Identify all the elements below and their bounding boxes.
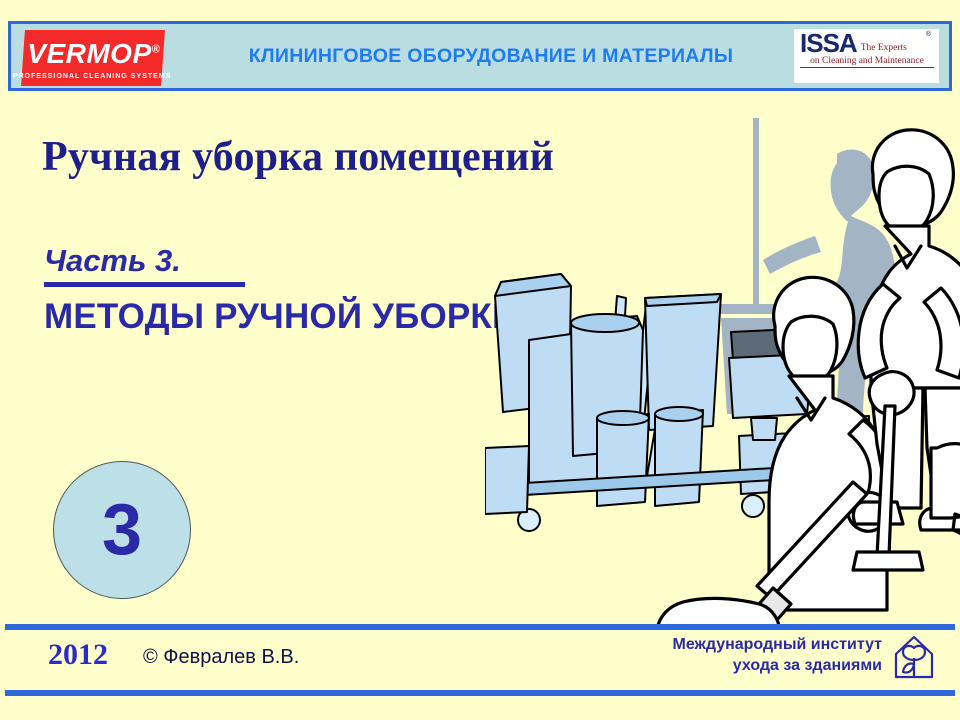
- cart-base-bar-icon: [507, 466, 807, 496]
- issa-tagline: on Cleaning and Maintenance: [800, 56, 934, 68]
- figure-standing-collar-icon: [895, 246, 921, 268]
- figure-standing-shoe-left-icon: [853, 502, 903, 524]
- vermop-registered-icon: ®: [151, 43, 160, 55]
- detergent-canister-icon: [825, 416, 869, 494]
- footer-institute-line1: Международный институт: [672, 634, 882, 655]
- round-bin-lid-icon: [571, 314, 639, 332]
- figure-front-face-icon: [783, 316, 837, 383]
- footer-year: 2012: [48, 638, 108, 672]
- issa-registered-icon: ®: [926, 31, 931, 38]
- vacuum-body-icon: [931, 444, 960, 518]
- header-bar: VERMOP® PROFESSIONAL CLEANING SYSTEMS КЛ…: [8, 21, 952, 91]
- waste-bin-lid-icon: [495, 274, 571, 296]
- footer-institute-line2: ухода за зданиями: [672, 655, 882, 676]
- institute-house-icon: [890, 632, 938, 682]
- vermop-name: VERMOP: [27, 38, 151, 69]
- issa-logo[interactable]: ® ISSA The Experts on Cleaning and Maint…: [794, 29, 939, 83]
- bag-holder-panel-icon: [529, 330, 599, 492]
- wringer-press-icon: [751, 418, 777, 440]
- part-label-underline: [44, 282, 245, 287]
- figure-standing-face-icon: [879, 166, 933, 233]
- large-bucket-icon: [645, 294, 721, 430]
- vacuum-cleaner-icon: [931, 444, 960, 556]
- cart-tray-icon: [731, 328, 817, 360]
- figure-standing-leg-right-icon: [925, 388, 960, 514]
- wringer-bucket-icon: [739, 432, 811, 494]
- house-flower-icon: [903, 646, 925, 660]
- figure-standing-arm-right-icon: [924, 288, 960, 378]
- vacuum-nozzle-icon: [853, 406, 923, 570]
- figure-front-torso-icon: [769, 376, 887, 610]
- footer-rule-bottom: [5, 690, 955, 696]
- small-bin-front-left-lid-icon: [597, 411, 649, 425]
- cleaner-figure-standing-icon: [853, 130, 960, 530]
- vacuum-hose-icon: [953, 514, 960, 556]
- vacuum-wand-icon: [877, 406, 895, 556]
- cleaner-figure-front-icon: [769, 277, 893, 610]
- round-bin-icon: [571, 316, 643, 456]
- issa-experts-block: The Experts: [861, 37, 934, 56]
- side-caddy-icon: [485, 446, 529, 514]
- vermop-tagline: PROFESSIONAL CLEANING SYSTEMS: [13, 71, 172, 80]
- cart-wheel-icon: [792, 491, 814, 513]
- issa-experts-label: The Experts: [861, 43, 907, 53]
- cart-wheel-icon: [742, 495, 764, 517]
- waste-bin-tall-icon: [495, 274, 571, 412]
- cart-wheel-icon: [518, 509, 540, 531]
- part-label: Часть 3.: [44, 243, 181, 279]
- mop-icon: [657, 482, 867, 628]
- cleaning-illustration: Линейный рисунок: две уборщицы с шваброй…: [485, 118, 960, 628]
- mop-handle-icon: [757, 482, 867, 598]
- vermop-logo[interactable]: VERMOP® PROFESSIONAL CLEANING SYSTEMS: [21, 30, 165, 86]
- spray-bottle-icon: [837, 488, 855, 532]
- figure-front-collar-icon: [797, 398, 825, 420]
- section-subtitle: МЕТОДЫ РУЧНОЙ УБОРКИ: [44, 297, 517, 337]
- cleaning-equipment-cluster-icon: [485, 274, 869, 532]
- figure-standing-hand-icon: [869, 372, 914, 415]
- figure-standing-leg-left-icon: [871, 388, 923, 508]
- slide-root: VERMOP® PROFESSIONAL CLEANING SYSTEMS КЛ…: [0, 0, 960, 720]
- mop-collar-icon: [759, 588, 791, 620]
- mop-handles-icon: [603, 296, 686, 480]
- footer-institute: Международный институт ухода за зданиями: [672, 634, 882, 676]
- cart-basin-icon: [729, 354, 813, 418]
- issa-wordmark: ISSA: [800, 32, 857, 56]
- house-leaf-icon: [903, 663, 914, 672]
- page-title: Ручная уборка помещений: [42, 133, 554, 181]
- footer-copyright: © Февралев В.В.: [143, 646, 299, 669]
- figure-standing-torso-icon: [871, 226, 960, 388]
- header-title: КЛИНИНГОВОЕ ОБОРУДОВАНИЕ И МАТЕРИАЛЫ: [181, 24, 801, 88]
- figure-standing-arm-left-icon: [858, 284, 900, 378]
- small-bin-front-left-icon: [597, 414, 649, 506]
- figure-front-hair-icon: [774, 277, 854, 375]
- small-bin-front-right-lid-icon: [655, 407, 703, 421]
- figure-standing-shoe-right-icon: [920, 508, 960, 530]
- figure-front-hand-icon: [848, 492, 888, 531]
- part-number-badge: 3: [53, 461, 191, 599]
- figure-standing-hair-icon: [872, 130, 953, 226]
- vacuum-floorhead-icon: [853, 552, 923, 570]
- small-bin-front-right-icon: [655, 410, 703, 506]
- silhouette-window-cleaner-icon: [709, 118, 904, 414]
- large-bucket-rim-icon: [645, 294, 721, 306]
- footer-rule-top: [5, 624, 955, 630]
- figure-front-arm-icon: [849, 420, 893, 510]
- vermop-wordmark: VERMOP®: [27, 40, 160, 68]
- part-number-badge-value: 3: [102, 494, 142, 566]
- issa-logo-row: ISSA The Experts: [800, 32, 934, 56]
